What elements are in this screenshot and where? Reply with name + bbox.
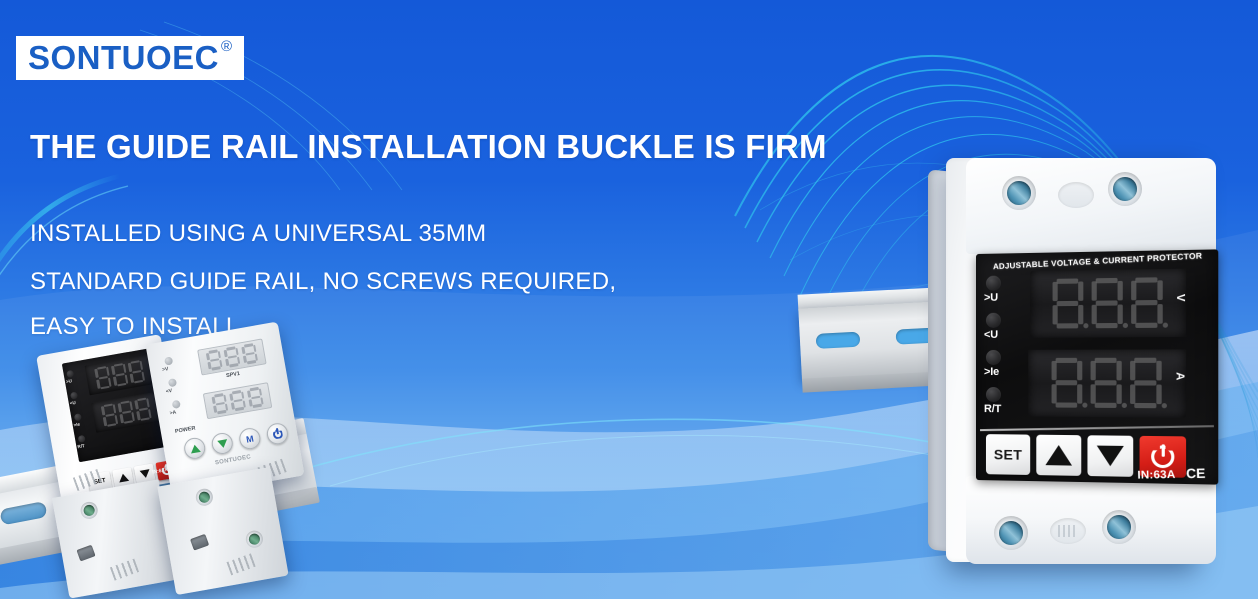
voltage-display: V [1030,269,1186,338]
voltage-current-protector-device: ADJUSTABLE VOLTAGE & CURRENT PROTECTOR >… [928,158,1228,570]
indicator-row: R/T [982,387,1030,425]
power-icon [1151,445,1174,468]
indicator-label: >Ie [984,366,999,378]
set-button-label: SET [994,446,1022,463]
panel-divider [980,425,1214,431]
reset-timer-led-icon [78,435,86,443]
device-top-vent [1058,182,1094,208]
decrease-button[interactable] [1087,435,1133,477]
wire-terminal [76,545,95,562]
seven-segment-digit [117,400,136,425]
page-title: THE GUIDE RAIL INSTALLATION BUCKLE IS FI… [30,128,827,166]
current-display: A [1028,349,1186,417]
device-a-voltage-display [85,354,155,395]
voltage-unit-label: V [1174,294,1187,302]
indicator-label: R/T [77,443,85,449]
seven-segment-digit [1128,358,1164,410]
seven-segment-digit [1129,277,1165,329]
terminal-screw-bottom-left [994,516,1028,550]
seven-segment-digit [100,403,119,428]
device-b-upper-caption: SPV1 [226,371,241,379]
device-control-panel: ADJUSTABLE VOLTAGE & CURRENT PROTECTOR >… [976,249,1218,484]
indicator-label: <V [165,388,172,395]
current-rating-label: IN:63A [1137,469,1175,482]
seven-segment-digit [1051,278,1086,329]
device-body: ADJUSTABLE VOLTAGE & CURRENT PROTECTOR >… [946,158,1198,562]
din-rail-mounted-devices-group: >U <U >Ie R/T SET [0,330,400,599]
device-b-power-button[interactable] [265,422,289,446]
seven-segment-digit [94,365,113,390]
rail-slot [816,332,861,349]
seven-segment-digit [1088,358,1123,409]
subheading-line-2: STANDARD GUIDE RAIL, NO SCREWS REQUIRED, [30,268,616,296]
terminal-screw-top-left [1002,176,1036,210]
terminal-screw [79,501,99,521]
wire-terminal [190,534,209,551]
triangle-up-icon [117,473,128,483]
reset-timer-led-icon [986,387,1001,402]
terminal-screw [195,487,215,507]
under-voltage-led-icon [168,378,177,387]
device-b-lower-display [203,382,273,419]
indicator-label: >A [169,410,176,417]
terminal-screw-bottom-right [1102,510,1136,544]
indicator-label: <U [69,400,76,406]
indicator-label: R/T [984,403,1001,415]
triangle-down-icon [217,439,228,449]
indicator-led-column: >U <U >Ie R/T [982,275,1030,424]
device-b-mode-button[interactable]: M [238,426,262,450]
brand-logo: SONTUOEC ® [16,36,244,80]
button-row: SET IN:63A CE [984,434,1212,480]
triangle-up-icon [189,444,200,454]
over-voltage-led-icon [986,276,1001,291]
device-b-lower-caption: POWER [175,425,197,435]
seven-segment-digit [228,390,246,412]
indicator-row: >U [982,275,1030,313]
device-a-lower-housing [52,479,176,598]
ce-mark-icon: CE [1186,465,1206,481]
device-b-brand-mark: SONTUOEC [215,454,252,466]
housing-vents [226,553,255,575]
device-b-upper-display [197,338,267,375]
device-bottom-vent [1050,518,1086,544]
seven-segment-digit [223,346,241,368]
over-current-led-icon [172,400,181,409]
registered-trademark-icon: ® [221,39,232,54]
indicator-label: >U [66,378,73,384]
set-button[interactable]: SET [986,434,1030,475]
current-unit-label: A [1173,372,1186,380]
indicator-row: <U [982,313,1030,350]
indicator-label: >V [162,366,169,373]
seven-segment-digit [246,386,264,408]
left-device-b: >V <V >A SPV1 POWER M SONTUOEC [145,322,304,499]
indicator-label: >Ie [73,422,80,428]
seven-segment-digit [241,343,259,365]
housing-vents [110,559,139,581]
over-voltage-led-icon [66,370,74,378]
over-current-led-icon [74,413,82,421]
product-banner: SONTUOEC ® THE GUIDE RAIL INSTALLATION B… [0,0,1258,599]
under-voltage-led-icon [986,313,1001,328]
device-b-lower-housing [157,467,288,595]
seven-segment-digit [1090,278,1125,329]
triangle-up-icon [1045,445,1072,466]
seven-segment-digit [134,397,153,422]
device-b-increase-button[interactable] [183,436,207,460]
over-voltage-led-icon [164,356,173,365]
indicator-label: >U [984,292,998,304]
subheading-line-1: INSTALLED USING A UNIVERSAL 35MM [30,220,486,248]
increase-button[interactable] [1036,435,1081,476]
over-current-led-icon [986,350,1001,365]
device-a-current-display [91,392,161,433]
terminal-screw [245,529,265,549]
power-icon [272,428,284,440]
triangle-down-icon [139,469,150,479]
seven-segment-digit [127,359,146,384]
seven-segment-digit [1050,358,1085,409]
mode-button-label: M [245,433,254,444]
indicator-label: <U [984,329,998,341]
indicator-row: >Ie [982,350,1030,387]
terminal-screw-top-right [1108,172,1142,206]
device-b-decrease-button[interactable] [210,431,234,455]
under-voltage-led-icon [70,392,78,400]
seven-segment-digit [211,393,229,415]
seven-segment-digit [110,362,129,387]
triangle-down-icon [1097,446,1124,467]
brand-name: SONTUOEC [28,41,219,74]
seven-segment-digit [205,349,223,371]
device-top-face [966,158,1216,254]
